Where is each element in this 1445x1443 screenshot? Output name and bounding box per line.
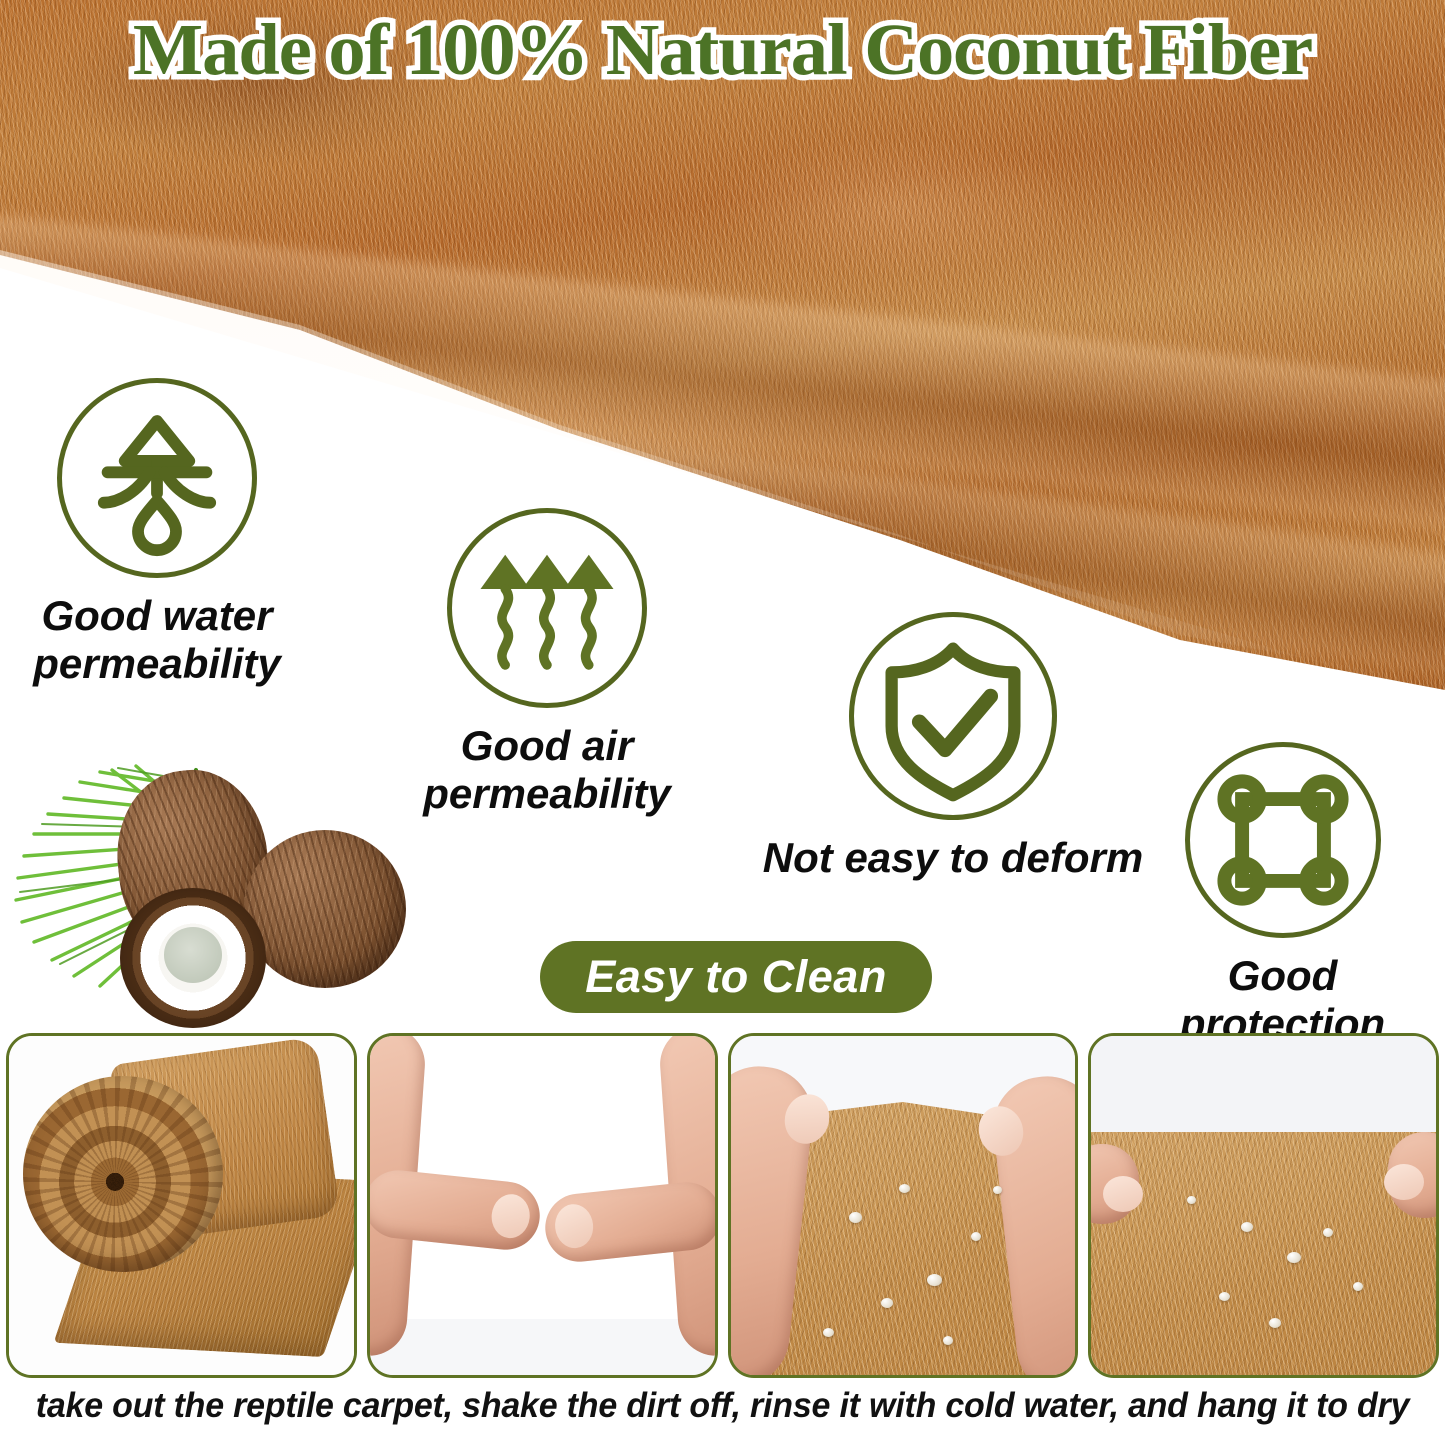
water-droplet [881, 1298, 893, 1308]
coconut-illustration [6, 752, 426, 1032]
water-droplet [943, 1336, 953, 1345]
water-droplet [899, 1184, 910, 1193]
left-fingernail [1103, 1176, 1143, 1212]
feature-good-air-permeability: Good air permeability [382, 508, 712, 818]
water-droplet [927, 1274, 942, 1286]
right-fingernail [1384, 1164, 1424, 1200]
page-title: Made of 100% Natural Coconut Fiber [0, 10, 1445, 90]
feature-label: Not easy to deform [738, 834, 1168, 882]
panel-closeup-mat [1088, 1033, 1439, 1378]
feature-not-easy-to-deform: Not easy to deform [738, 612, 1168, 882]
feature-label: Good air permeability [382, 722, 712, 818]
panel-press-mat [367, 1033, 718, 1378]
photo-panel-strip [6, 1033, 1439, 1378]
feature-good-protection: Good protection [1120, 742, 1445, 1048]
feature-good-water-permeability: Good water permeability [0, 378, 322, 688]
water-droplet [993, 1186, 1002, 1194]
panel-rolled-mat [6, 1033, 357, 1378]
fingernail [489, 1192, 531, 1240]
water-droplet [849, 1212, 862, 1223]
coconut-cut-open [120, 888, 266, 1028]
coconut-whole-right [244, 830, 406, 988]
badge-label: Easy to Clean [585, 951, 887, 1003]
mat-texture [1088, 1132, 1439, 1378]
easy-to-clean-badge: Easy to Clean [540, 941, 932, 1013]
air-permeability-icon [447, 508, 647, 708]
fingernail [552, 1202, 594, 1250]
square-frame-icon [1185, 742, 1381, 938]
shield-check-icon [849, 612, 1057, 820]
panel-background [370, 1319, 715, 1375]
feature-label: Good water permeability [0, 592, 322, 688]
care-instructions-caption: take out the reptile carpet, shake the d… [22, 1386, 1424, 1426]
water-droplet [971, 1232, 981, 1241]
mat-roll-spiral [23, 1076, 223, 1272]
water-permeability-icon [57, 378, 257, 578]
panel-background [1091, 1036, 1436, 1136]
panel-shake-mat [728, 1033, 1079, 1378]
water-droplet [823, 1328, 834, 1337]
